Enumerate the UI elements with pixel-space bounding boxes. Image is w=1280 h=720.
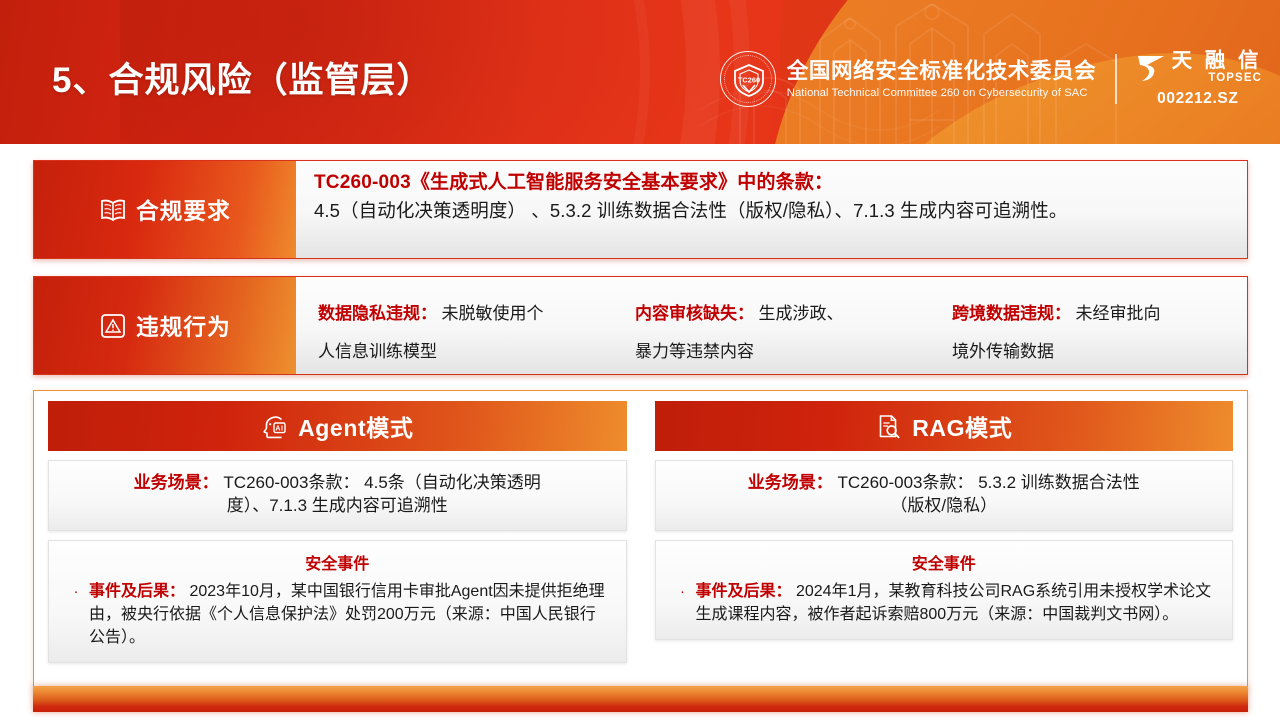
svg-text:TC260: TC260 bbox=[738, 75, 760, 84]
requirement-detail: 4.5（自动化决策透明度） 、5.3.2 训练数据合法性（版权/隐私）、7.1.… bbox=[314, 199, 1233, 223]
brand-name-cn: 天 融 信 bbox=[1172, 51, 1262, 72]
violation-item-line2: 暴力等违禁内容 bbox=[635, 337, 922, 362]
slide-header: 5、合规风险（监管层） TC260 全国网络安全标准化技术委员会 Nationa… bbox=[0, 0, 1280, 144]
violation-item-key: 内容审核缺失： bbox=[635, 304, 754, 323]
rag-mode-card-title: RAG模式 bbox=[912, 409, 1012, 443]
rag-scene-line2: （版权/隐私） bbox=[672, 494, 1217, 517]
agent-scene-line2: 度）、7.1.3 生成内容可追溯性 bbox=[65, 494, 610, 517]
requirement-heading: TC260-003《生成式人工智能服务安全基本要求》中的条款： bbox=[314, 171, 1233, 196]
agent-mode-card: AI Agent模式 业务场景： TC260-003条款： 4.5条（自动化决策… bbox=[48, 401, 627, 663]
violation-item-line1: 未脱敏使用个 bbox=[441, 304, 543, 323]
header-logos: TC260 全国网络安全标准化技术委员会 National Technical … bbox=[720, 46, 1262, 112]
slide: 5、合规风险（监管层） TC260 全国网络安全标准化技术委员会 Nationa… bbox=[0, 0, 1280, 720]
bullet-icon: · bbox=[670, 580, 696, 626]
violation-item-line2: 人信息训练模型 bbox=[318, 337, 605, 362]
violation-behaviour-label-text: 违规行为 bbox=[136, 310, 231, 342]
violation-behaviour-row: 违规行为 数据隐私违规： 未脱敏使用个 人信息训练模型 内容审核缺失： 生成涉政… bbox=[33, 276, 1248, 375]
violation-item-line2: 境外传输数据 bbox=[952, 337, 1239, 362]
topsec-mark-icon bbox=[1134, 51, 1168, 85]
violation-item: 跨境数据违规： 未经审批向 境外传输数据 bbox=[930, 277, 1247, 374]
violation-item: 数据隐私违规： 未脱敏使用个 人信息训练模型 bbox=[296, 277, 613, 374]
svg-text:AI: AI bbox=[275, 425, 283, 432]
violation-item-line1: 未经审批向 bbox=[1075, 304, 1160, 323]
rag-event-key: 事件及后果： bbox=[696, 583, 792, 600]
compliance-requirement-row: 合规要求 TC260-003《生成式人工智能服务安全基本要求》中的条款： 4.5… bbox=[33, 160, 1248, 259]
topsec-logo-block: 天 融 信 TOPSEC 002212.SZ bbox=[1134, 51, 1262, 108]
rag-event-item: · 事件及后果： 2024年1月，某教育科技公司RAG系统引用未授权学术论文生成… bbox=[670, 580, 1219, 626]
agent-event-title: 安全事件 bbox=[63, 550, 612, 574]
brand-name-en: TOPSEC bbox=[1172, 73, 1262, 85]
rag-mode-card: RAG模式 业务场景： TC260-003条款： 5.3.2 训练数据合法性 （… bbox=[655, 401, 1234, 663]
logo-divider bbox=[1115, 54, 1116, 104]
rag-event-box: 安全事件 · 事件及后果： 2024年1月，某教育科技公司RAG系统引用未授权学… bbox=[655, 540, 1234, 640]
rag-scene-key: 业务场景： bbox=[748, 473, 833, 492]
tc260-seal-logo: TC260 bbox=[720, 51, 776, 107]
committee-name-en: National Technical Committee 260 on Cybe… bbox=[787, 87, 1096, 99]
stock-code: 002212.SZ bbox=[1134, 90, 1262, 108]
page-title: 5、合规风险（监管层） bbox=[52, 52, 432, 103]
violation-behaviour-label: 违规行为 bbox=[34, 277, 296, 374]
committee-name-block: 全国网络安全标准化技术委员会 National Technical Commit… bbox=[787, 59, 1096, 98]
compliance-requirement-body: TC260-003《生成式人工智能服务安全基本要求》中的条款： 4.5（自动化决… bbox=[296, 161, 1247, 258]
agent-scene-key: 业务场景： bbox=[134, 473, 219, 492]
warning-triangle-icon bbox=[99, 312, 127, 340]
ai-head-icon: AI bbox=[261, 413, 288, 440]
agent-mode-card-title: Agent模式 bbox=[298, 409, 413, 443]
rag-mode-card-header: RAG模式 bbox=[655, 401, 1234, 451]
violation-item-line1: 生成涉政、 bbox=[758, 304, 843, 323]
violation-behaviour-body: 数据隐私违规： 未脱敏使用个 人信息训练模型 内容审核缺失： 生成涉政、 暴力等… bbox=[296, 277, 1247, 374]
agent-event-box: 安全事件 · 事件及后果： 2023年10月，某中国银行信用卡审批Agent因未… bbox=[48, 540, 627, 664]
rag-scene-box: 业务场景： TC260-003条款： 5.3.2 训练数据合法性 （版权/隐私） bbox=[655, 460, 1234, 531]
rag-scene-line1: TC260-003条款： 5.3.2 训练数据合法性 bbox=[837, 473, 1139, 492]
rag-event-title: 安全事件 bbox=[670, 550, 1219, 574]
mode-comparison-panel: AI Agent模式 业务场景： TC260-003条款： 4.5条（自动化决策… bbox=[33, 390, 1248, 688]
agent-mode-card-header: AI Agent模式 bbox=[48, 401, 627, 451]
committee-name-cn: 全国网络安全标准化技术委员会 bbox=[787, 59, 1096, 84]
agent-scene-line1: TC260-003条款： 4.5条（自动化决策透明 bbox=[223, 473, 540, 492]
agent-scene-box: 业务场景： TC260-003条款： 4.5条（自动化决策透明 度）、7.1.3… bbox=[48, 460, 627, 531]
shield-icon: TC260 bbox=[732, 63, 766, 97]
slide-footer-bar bbox=[33, 686, 1248, 712]
violation-item-key: 数据隐私违规： bbox=[318, 304, 437, 323]
agent-event-item: · 事件及后果： 2023年10月，某中国银行信用卡审批Agent因未提供拒绝理… bbox=[63, 580, 612, 650]
violation-item-key: 跨境数据违规： bbox=[952, 304, 1071, 323]
compliance-requirement-label: 合规要求 bbox=[34, 161, 296, 258]
violation-item: 内容审核缺失： 生成涉政、 暴力等违禁内容 bbox=[613, 277, 930, 374]
open-book-icon bbox=[99, 196, 127, 224]
document-search-icon bbox=[875, 413, 902, 440]
agent-event-key: 事件及后果： bbox=[89, 583, 185, 600]
compliance-requirement-label-text: 合规要求 bbox=[136, 194, 231, 226]
bullet-icon: · bbox=[63, 580, 89, 650]
